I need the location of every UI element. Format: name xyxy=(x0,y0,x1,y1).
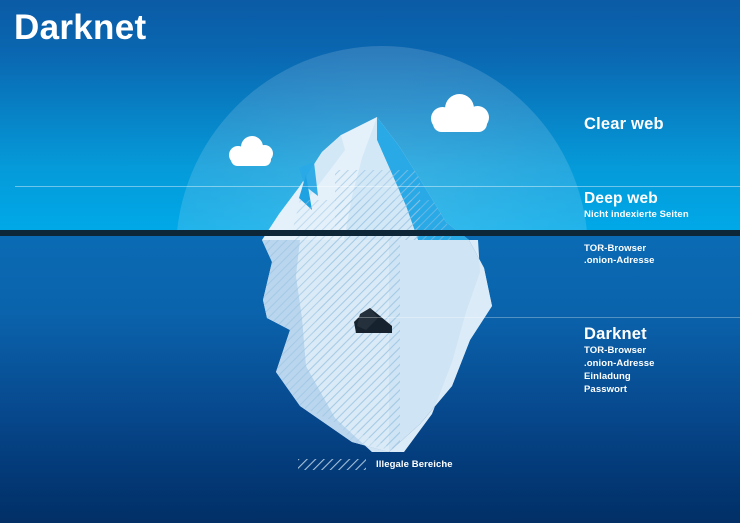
label-clear-web: Clear web xyxy=(584,115,664,134)
clear-deep-divider xyxy=(15,186,740,187)
label-deep-web-subtitle: Nicht indexierte Seiten xyxy=(584,209,689,220)
darknet-requirement-invitation: Einladung xyxy=(584,370,631,383)
page-title: Darknet xyxy=(14,8,146,48)
darknet-requirement-onion: .onion-Adresse xyxy=(584,357,655,370)
legend-hatch-swatch-icon xyxy=(298,459,366,470)
deep-web-requirement-onion: .onion-Adresse xyxy=(584,254,655,267)
legend: Illegale Bereiche xyxy=(298,459,453,470)
waterline-divider xyxy=(0,230,740,236)
label-darknet: Darknet xyxy=(584,325,647,344)
label-deep-web: Deep web xyxy=(584,190,658,208)
darknet-requirement-password: Passwort xyxy=(584,383,627,396)
deep-darknet-divider xyxy=(355,317,740,318)
infographic-canvas: Darknet Clear web Deep web Nicht indexie… xyxy=(0,0,740,523)
darknet-requirement-tor: TOR-Browser xyxy=(584,344,646,357)
legend-label: Illegale Bereiche xyxy=(376,459,453,470)
